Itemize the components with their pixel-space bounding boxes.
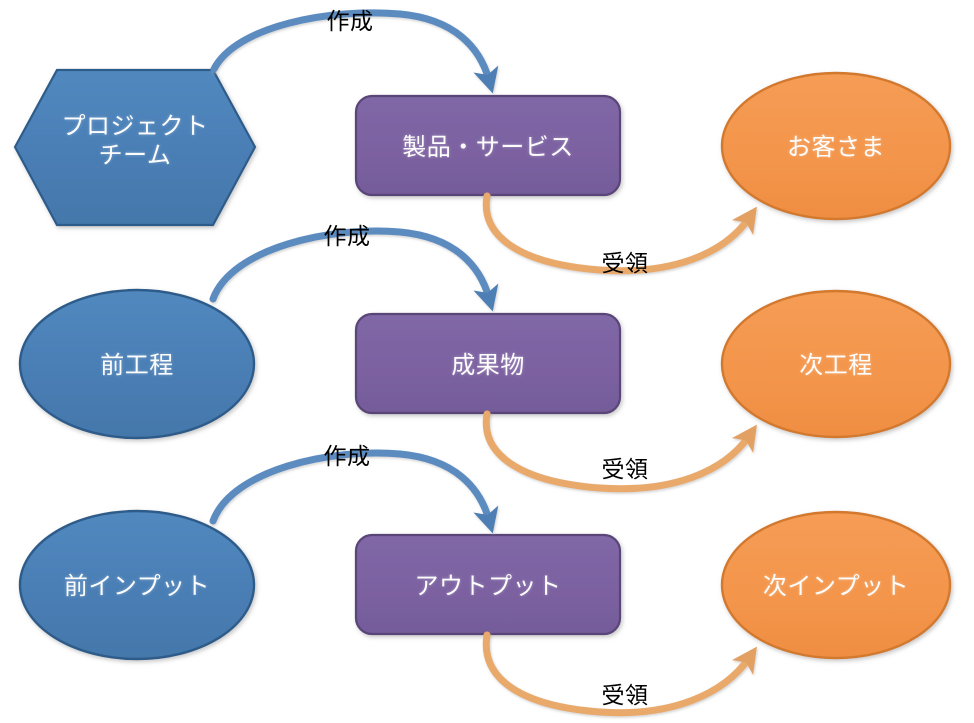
edge-label-receive-row3: 受領 [565,684,685,707]
node-shape-rect-row3[interactable] [356,535,620,634]
edge-label-create-row1: 作成 [290,10,410,33]
node-shape-ellipse-row3-target[interactable] [722,512,950,658]
node-shape-ellipse-row1[interactable] [722,73,950,219]
edge-label-receive-row1: 受領 [565,252,685,275]
diagram-canvas [0,0,974,723]
row-1-nodes [15,70,950,225]
edge-label-create-row2: 作成 [287,225,407,248]
node-shape-ellipse-row3-source[interactable] [20,511,254,659]
edge-label-receive-row2: 受領 [565,458,685,481]
edge-label-create-row3: 作成 [287,445,407,468]
node-shape-hexagon-row1[interactable] [15,70,255,225]
node-shape-rect-row2[interactable] [356,314,620,413]
node-shape-ellipse-row2-target[interactable] [722,291,950,437]
node-shape-rect-row1[interactable] [356,96,620,195]
node-shape-ellipse-row2-source[interactable] [20,290,254,438]
